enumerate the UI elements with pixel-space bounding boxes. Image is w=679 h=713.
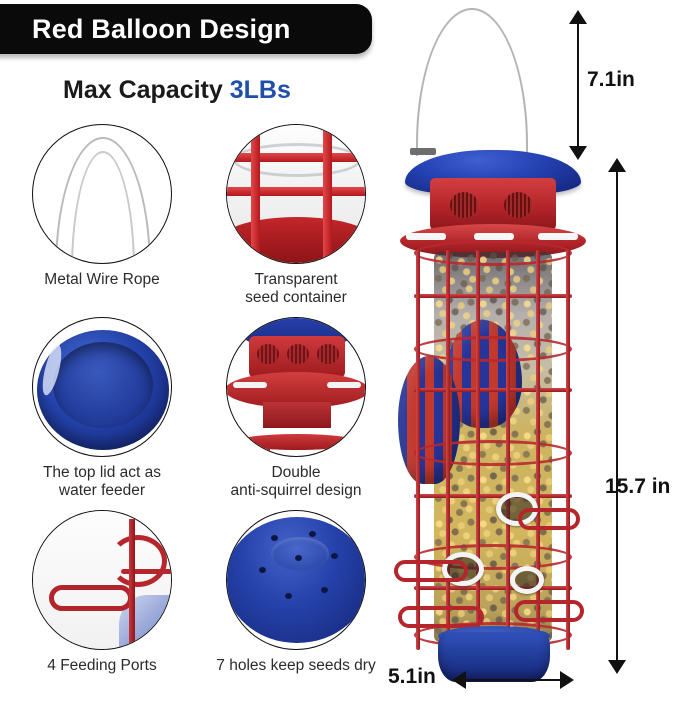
product-image: [392, 0, 592, 700]
cage-bar-horizontal: [414, 388, 572, 392]
cage-ring: [414, 440, 572, 466]
title-banner: Red Balloon Design: [0, 4, 372, 54]
drain-hole: [271, 535, 278, 541]
cage-bar-vertical: [476, 250, 480, 650]
base-hub: [271, 537, 329, 571]
cage-bar-vertical: [416, 250, 420, 650]
drain-hole: [295, 555, 302, 561]
vent-mesh: [450, 192, 478, 218]
feature-label: Metal Wire Rope: [4, 271, 200, 289]
red-wire-cage: [414, 250, 572, 650]
flange-slot: [474, 233, 514, 240]
drain-hole: [309, 531, 316, 537]
cage-bar-horizontal: [226, 153, 366, 162]
vent-mesh: [257, 344, 279, 364]
max-capacity-value: 3LBs: [230, 76, 291, 104]
metal-wire-hanger: [416, 8, 528, 156]
transparent-seed-container-icon: [226, 124, 366, 264]
dimension-body-height: 15.7 in: [605, 475, 670, 499]
cage-bar-vertical: [323, 124, 332, 264]
cage-ring: [414, 336, 572, 362]
metal-wire-rope-icon: [32, 124, 172, 264]
drain-hole: [285, 593, 292, 599]
baffle-leg: [325, 442, 328, 457]
vent-mesh: [504, 192, 532, 218]
base-dome: [226, 517, 366, 643]
page-title: Red Balloon Design: [0, 14, 291, 45]
perch: [398, 606, 484, 628]
blue-lid-water-feeder-icon: [32, 317, 172, 457]
flange-slot: [233, 382, 267, 388]
hanger-clip: [410, 148, 436, 155]
baffle-leg: [267, 442, 270, 457]
drainage-holes-base-icon: [226, 510, 366, 650]
cage-bar-vertical: [251, 124, 260, 264]
dimension-hanger-height: 7.1in: [587, 68, 635, 92]
dimension-base-width: 5.1in: [388, 665, 436, 689]
anti-squirrel-baffle-icon: [226, 317, 366, 457]
baffle-stem: [263, 402, 331, 428]
perch-loop: [49, 585, 133, 611]
perch: [514, 600, 584, 622]
feeding-port-perch-icon: [32, 510, 172, 650]
cage-bar-vertical: [506, 250, 510, 650]
feature-item-feeding-ports: 4 Feeding Ports: [4, 510, 200, 675]
cage-bar-vertical: [446, 250, 450, 650]
flange-slot: [327, 382, 361, 388]
feature-label: Transparent seed container: [198, 271, 394, 307]
red-disc: [226, 217, 366, 263]
max-capacity-line: Max Capacity 3LBs: [63, 76, 291, 105]
dim-arrow-down-7in: [569, 146, 587, 160]
cage-bar-horizontal: [226, 187, 366, 196]
dim-arrow-right-51in: [560, 671, 574, 689]
port-ring: [109, 535, 167, 587]
feature-item-water-feeder-lid: The top lid act as water feeder: [4, 317, 200, 500]
red-vented-collar: [430, 178, 556, 230]
drain-hole: [331, 553, 338, 559]
cage-ring: [414, 240, 572, 266]
flange-slot: [406, 233, 446, 240]
feature-label: Double anti-squirrel design: [198, 464, 394, 500]
flange-slot: [538, 233, 578, 240]
perch: [394, 560, 468, 582]
max-capacity-label: Max Capacity: [63, 76, 230, 104]
second-baffle: [235, 434, 359, 450]
feeding-port: [510, 566, 544, 594]
drain-hole: [259, 567, 266, 573]
cage-post: [129, 519, 135, 647]
cage-bar-vertical: [566, 250, 570, 650]
feature-item-drainage-holes: 7 holes keep seeds dry: [198, 510, 394, 675]
perch: [518, 508, 580, 530]
feature-grid: Metal Wire Rope Transparent seed contain…: [0, 124, 400, 694]
vent-mesh: [287, 344, 309, 364]
vent-mesh: [317, 344, 339, 364]
feature-item-metal-wire-rope: Metal Wire Rope: [4, 124, 200, 289]
feature-item-transparent-seed-container: Transparent seed container: [198, 124, 394, 307]
dim-arrow-down-157in: [608, 660, 626, 674]
dim-line-51in: [464, 679, 562, 681]
drain-hole: [321, 587, 328, 593]
cage-bar-horizontal: [414, 494, 572, 498]
feature-item-anti-squirrel: Double anti-squirrel design: [198, 317, 394, 500]
feature-label: 4 Feeding Ports: [4, 657, 200, 675]
feature-label: The top lid act as water feeder: [4, 464, 200, 500]
lid-inner-basin: [53, 342, 153, 428]
cage-bar-horizontal: [414, 294, 572, 298]
dim-line-7in: [577, 22, 579, 148]
cage-bar-horizontal: [414, 586, 572, 590]
feature-label: 7 holes keep seeds dry: [198, 657, 394, 675]
dim-line-157in: [616, 170, 618, 662]
